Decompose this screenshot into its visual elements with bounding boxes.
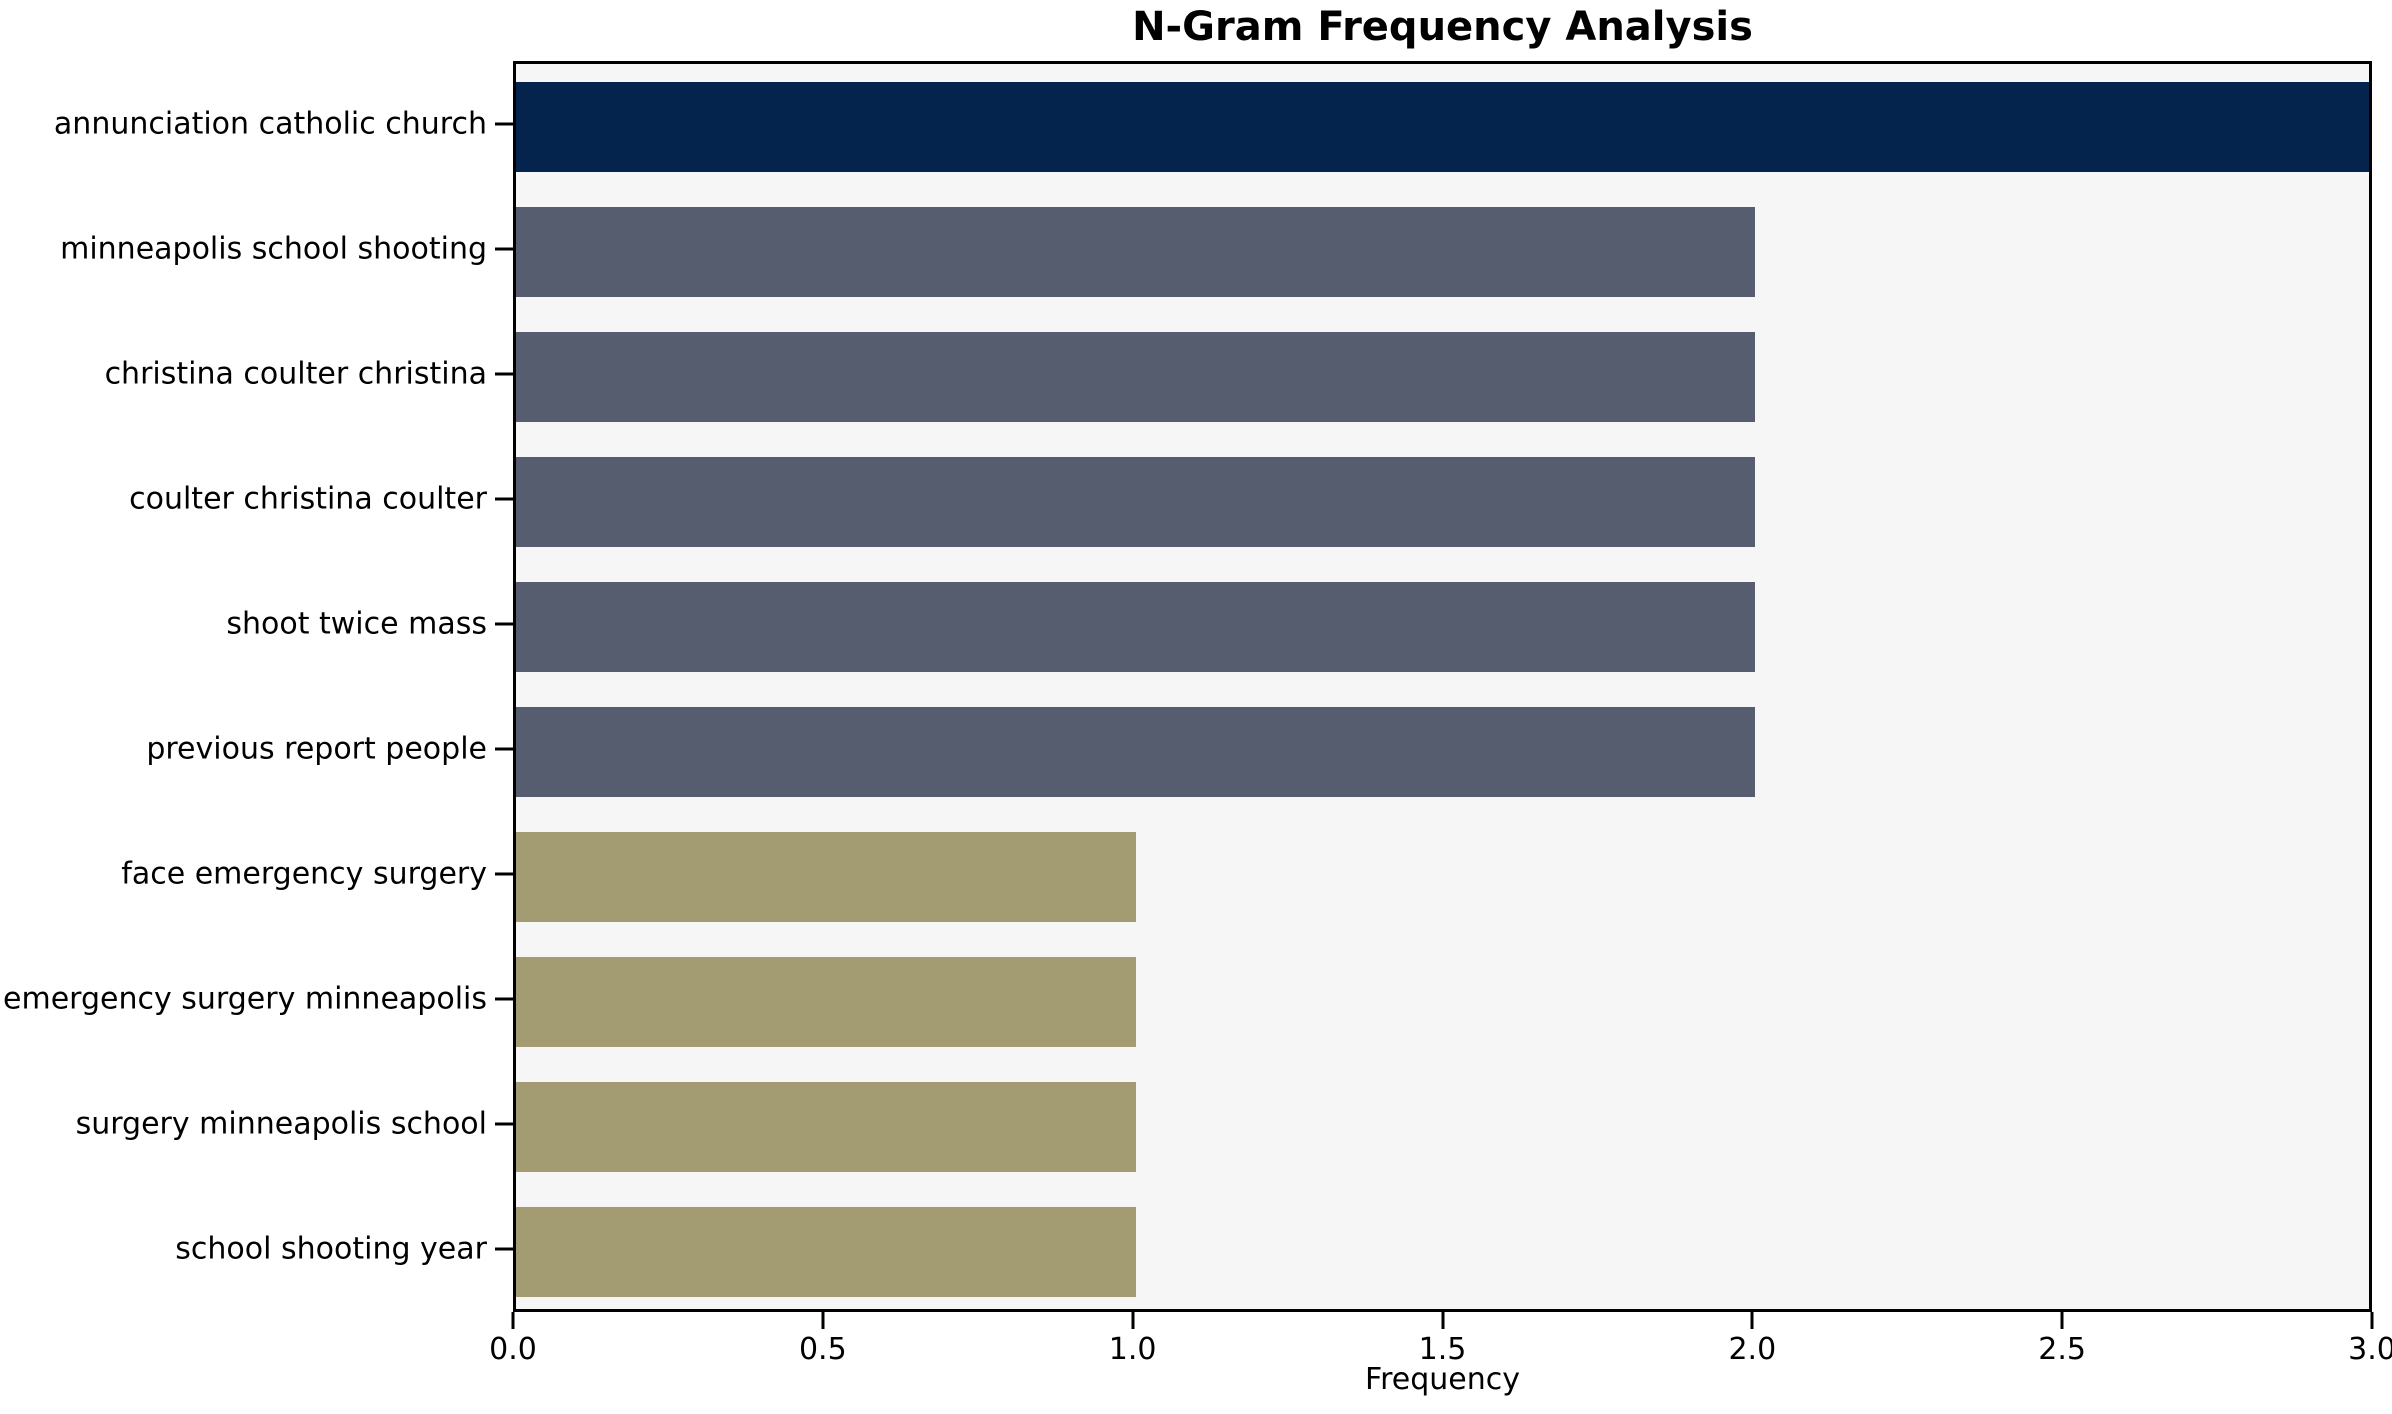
bar: [516, 82, 2372, 172]
x-tick-mark: [1441, 1312, 1444, 1329]
y-tick-mark: [495, 873, 513, 876]
y-tick-mark: [495, 372, 513, 375]
x-axis-title: Frequency: [513, 1362, 2372, 1397]
y-axis-tick-labels: annunciation catholic churchminneapolis …: [0, 61, 513, 1312]
bar: [516, 457, 1755, 547]
y-tick-mark: [495, 622, 513, 625]
y-tick-mark: [495, 122, 513, 125]
y-tick-label: surgery minneapolis school: [76, 1107, 487, 1142]
y-tick-mark: [495, 497, 513, 500]
x-tick-mark: [2061, 1312, 2064, 1329]
y-tick-label: christina coulter christina: [105, 356, 487, 391]
x-tick-mark: [1131, 1312, 1134, 1329]
plot-area: [513, 61, 2372, 1312]
y-tick-mark: [495, 998, 513, 1001]
bar: [516, 332, 1755, 422]
y-tick-mark: [495, 1123, 513, 1126]
y-tick-label: emergency surgery minneapolis: [3, 982, 487, 1017]
y-tick-label: shoot twice mass: [226, 606, 487, 641]
y-tick-mark: [495, 247, 513, 250]
x-tick-mark: [512, 1312, 515, 1329]
bar: [516, 1207, 1136, 1297]
y-tick-mark: [495, 748, 513, 751]
x-tick-mark: [2371, 1312, 2374, 1329]
y-tick-label: coulter christina coulter: [129, 481, 487, 516]
x-tick-mark: [1751, 1312, 1754, 1329]
x-tick-mark: [821, 1312, 824, 1329]
bar: [516, 582, 1755, 672]
bar: [516, 207, 1755, 297]
y-tick-label: face emergency surgery: [121, 857, 487, 892]
y-tick-label: school shooting year: [175, 1232, 487, 1267]
bar: [516, 1082, 1136, 1172]
bar: [516, 832, 1136, 922]
chart-figure: N-Gram Frequency Analysis annunciation c…: [0, 0, 2392, 1414]
y-tick-label: annunciation catholic church: [54, 106, 487, 141]
chart-title: N-Gram Frequency Analysis: [513, 0, 2372, 58]
y-tick-label: minneapolis school shooting: [60, 231, 487, 266]
y-tick-label: previous report people: [146, 732, 487, 767]
y-tick-mark: [495, 1248, 513, 1251]
bar: [516, 957, 1136, 1047]
bar: [516, 707, 1755, 797]
bars-layer: [516, 64, 2369, 1309]
